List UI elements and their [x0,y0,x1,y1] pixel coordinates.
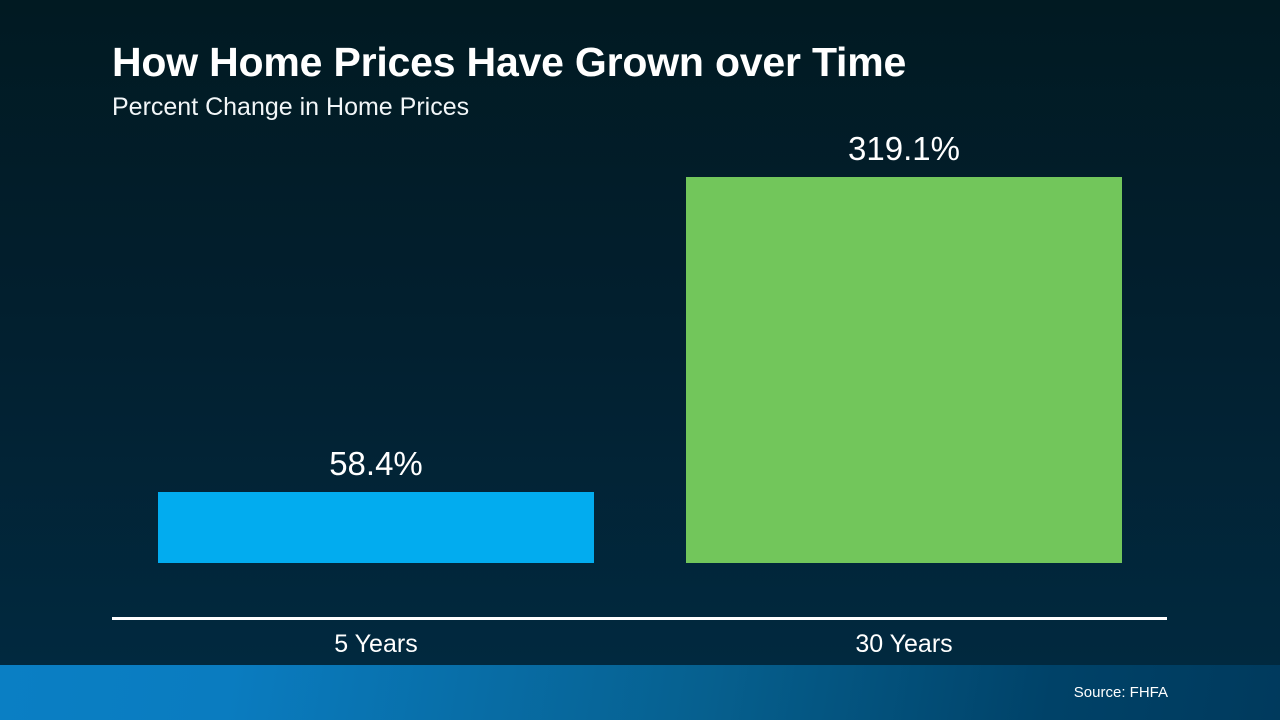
bar-rect-30-years [686,177,1122,563]
bar-5-years[interactable]: 58.4% [158,492,594,563]
bar-value-label-5-years: 58.4% [158,447,594,480]
x-axis-label-5-years: 5 Years [158,632,594,657]
bar-value-label-30-years: 319.1% [686,132,1122,165]
bar-30-years[interactable]: 319.1% [686,177,1122,563]
footer-bar: Source: FHFA [0,665,1280,720]
source-attribution: Source: FHFA [1074,685,1168,700]
x-axis-label-30-years: 30 Years [686,632,1122,657]
bar-rect-5-years [158,492,594,563]
x-axis-line [112,617,1167,620]
chart-slide: How Home Prices Have Grown over Time Per… [0,0,1280,720]
bar-chart-plot-area: 58.4% 319.1% 5 Years 30 Years [0,0,1280,665]
